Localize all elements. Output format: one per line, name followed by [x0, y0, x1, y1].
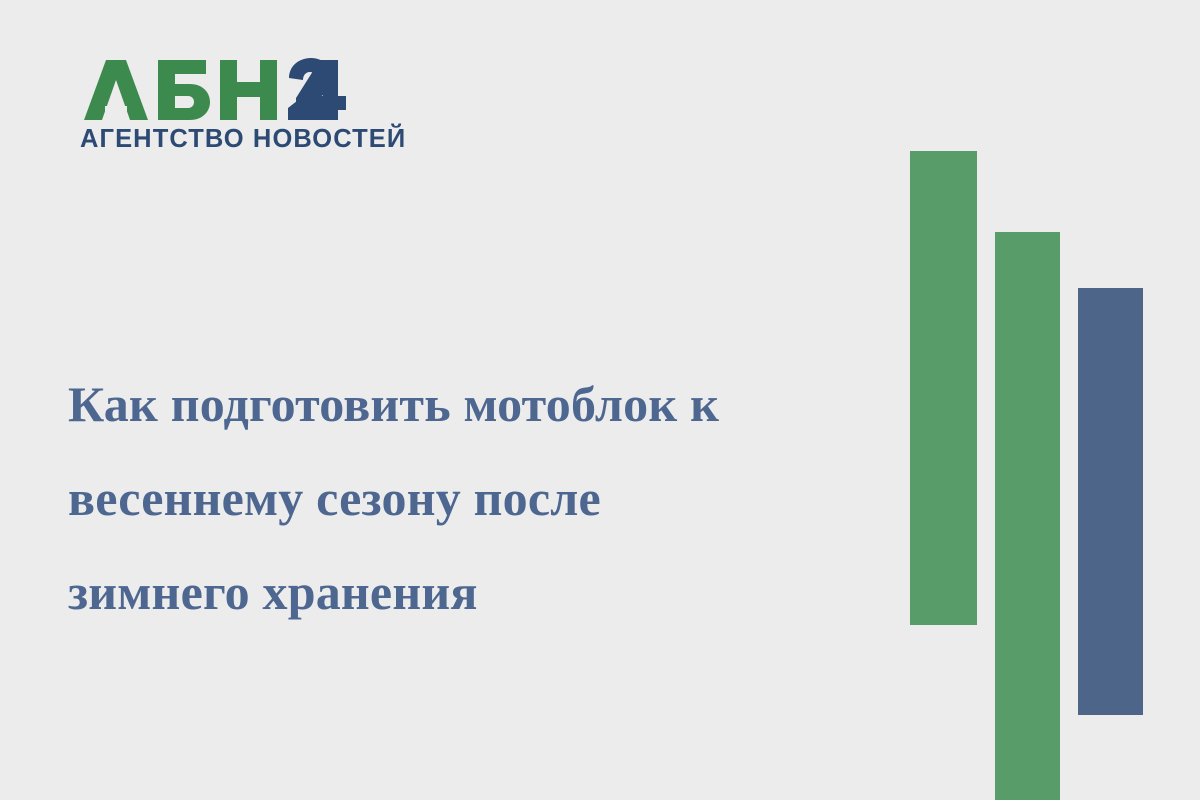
headline: Как подготовить мотоблок к весеннему сез…	[68, 357, 868, 639]
decorative-bar-3	[1078, 288, 1143, 715]
headline-line-3: зимнего хранения	[68, 545, 868, 639]
headline-line-1: Как подготовить мотоблок к	[68, 357, 868, 451]
abn24-logo[interactable]: АГЕНТСТВО НОВОСТЕЙ	[80, 58, 370, 153]
decorative-bar-2	[995, 232, 1060, 800]
logo-tagline: АГЕНТСТВО НОВОСТЕЙ	[80, 127, 370, 153]
decorative-bar-1	[910, 151, 977, 625]
logo-wordmark-icon	[80, 58, 370, 120]
news-card: АГЕНТСТВО НОВОСТЕЙ Как подготовить мотоб…	[0, 0, 1200, 800]
headline-line-2: весеннему сезону после	[68, 451, 868, 545]
